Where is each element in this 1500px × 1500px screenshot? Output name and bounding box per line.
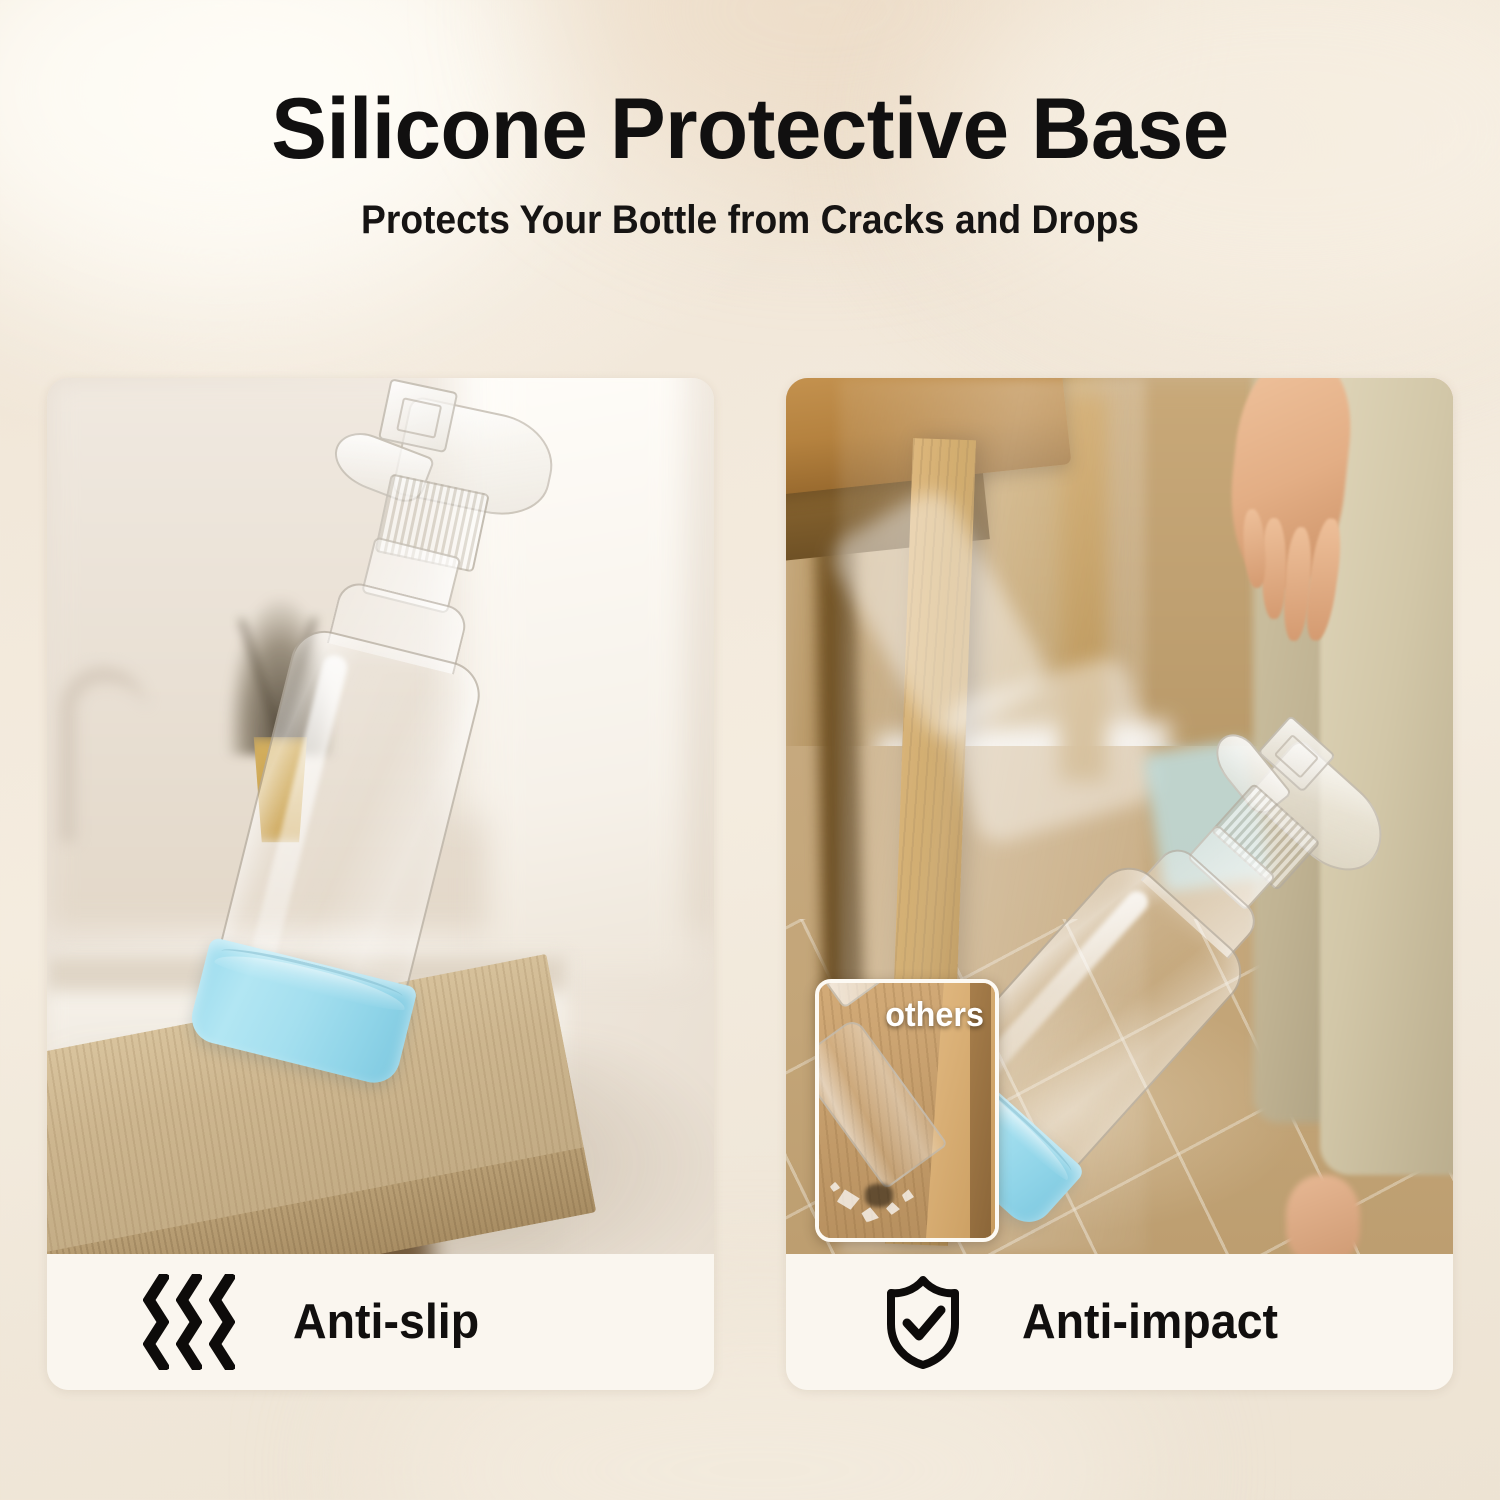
kitchen-faucet <box>60 667 147 842</box>
kitchen-scene <box>47 378 714 1254</box>
person-finger <box>1262 518 1286 619</box>
feature-card-anti-impact: others Anti-impact <box>786 378 1453 1390</box>
shield-check-icon <box>882 1274 964 1370</box>
feature-card-anti-slip: Anti-slip <box>47 378 714 1390</box>
hallway-scene: others <box>786 378 1453 1254</box>
person-bare-foot <box>1286 1175 1359 1254</box>
zigzag-waves-icon <box>143 1274 235 1370</box>
caption-label-anti-impact: Anti-impact <box>1022 1294 1278 1350</box>
inset-break-shadow <box>865 1184 893 1207</box>
photo-anti-slip <box>47 378 714 1254</box>
page-subtitle: Protects Your Bottle from Cracks and Dro… <box>53 198 1448 243</box>
caption-bar-anti-slip: Anti-slip <box>47 1254 714 1390</box>
caption-label-anti-slip: Anti-slip <box>293 1294 479 1350</box>
photo-anti-impact: others <box>786 378 1453 1254</box>
feature-panels: Anti-slip <box>47 378 1453 1390</box>
header: Silicone Protective Base Protects Your B… <box>0 84 1500 243</box>
others-comparison-inset: others <box>815 979 998 1242</box>
inset-label-others: others <box>886 996 985 1035</box>
page-title: Silicone Protective Base <box>23 84 1478 174</box>
caption-bar-anti-impact: Anti-impact <box>786 1254 1453 1390</box>
